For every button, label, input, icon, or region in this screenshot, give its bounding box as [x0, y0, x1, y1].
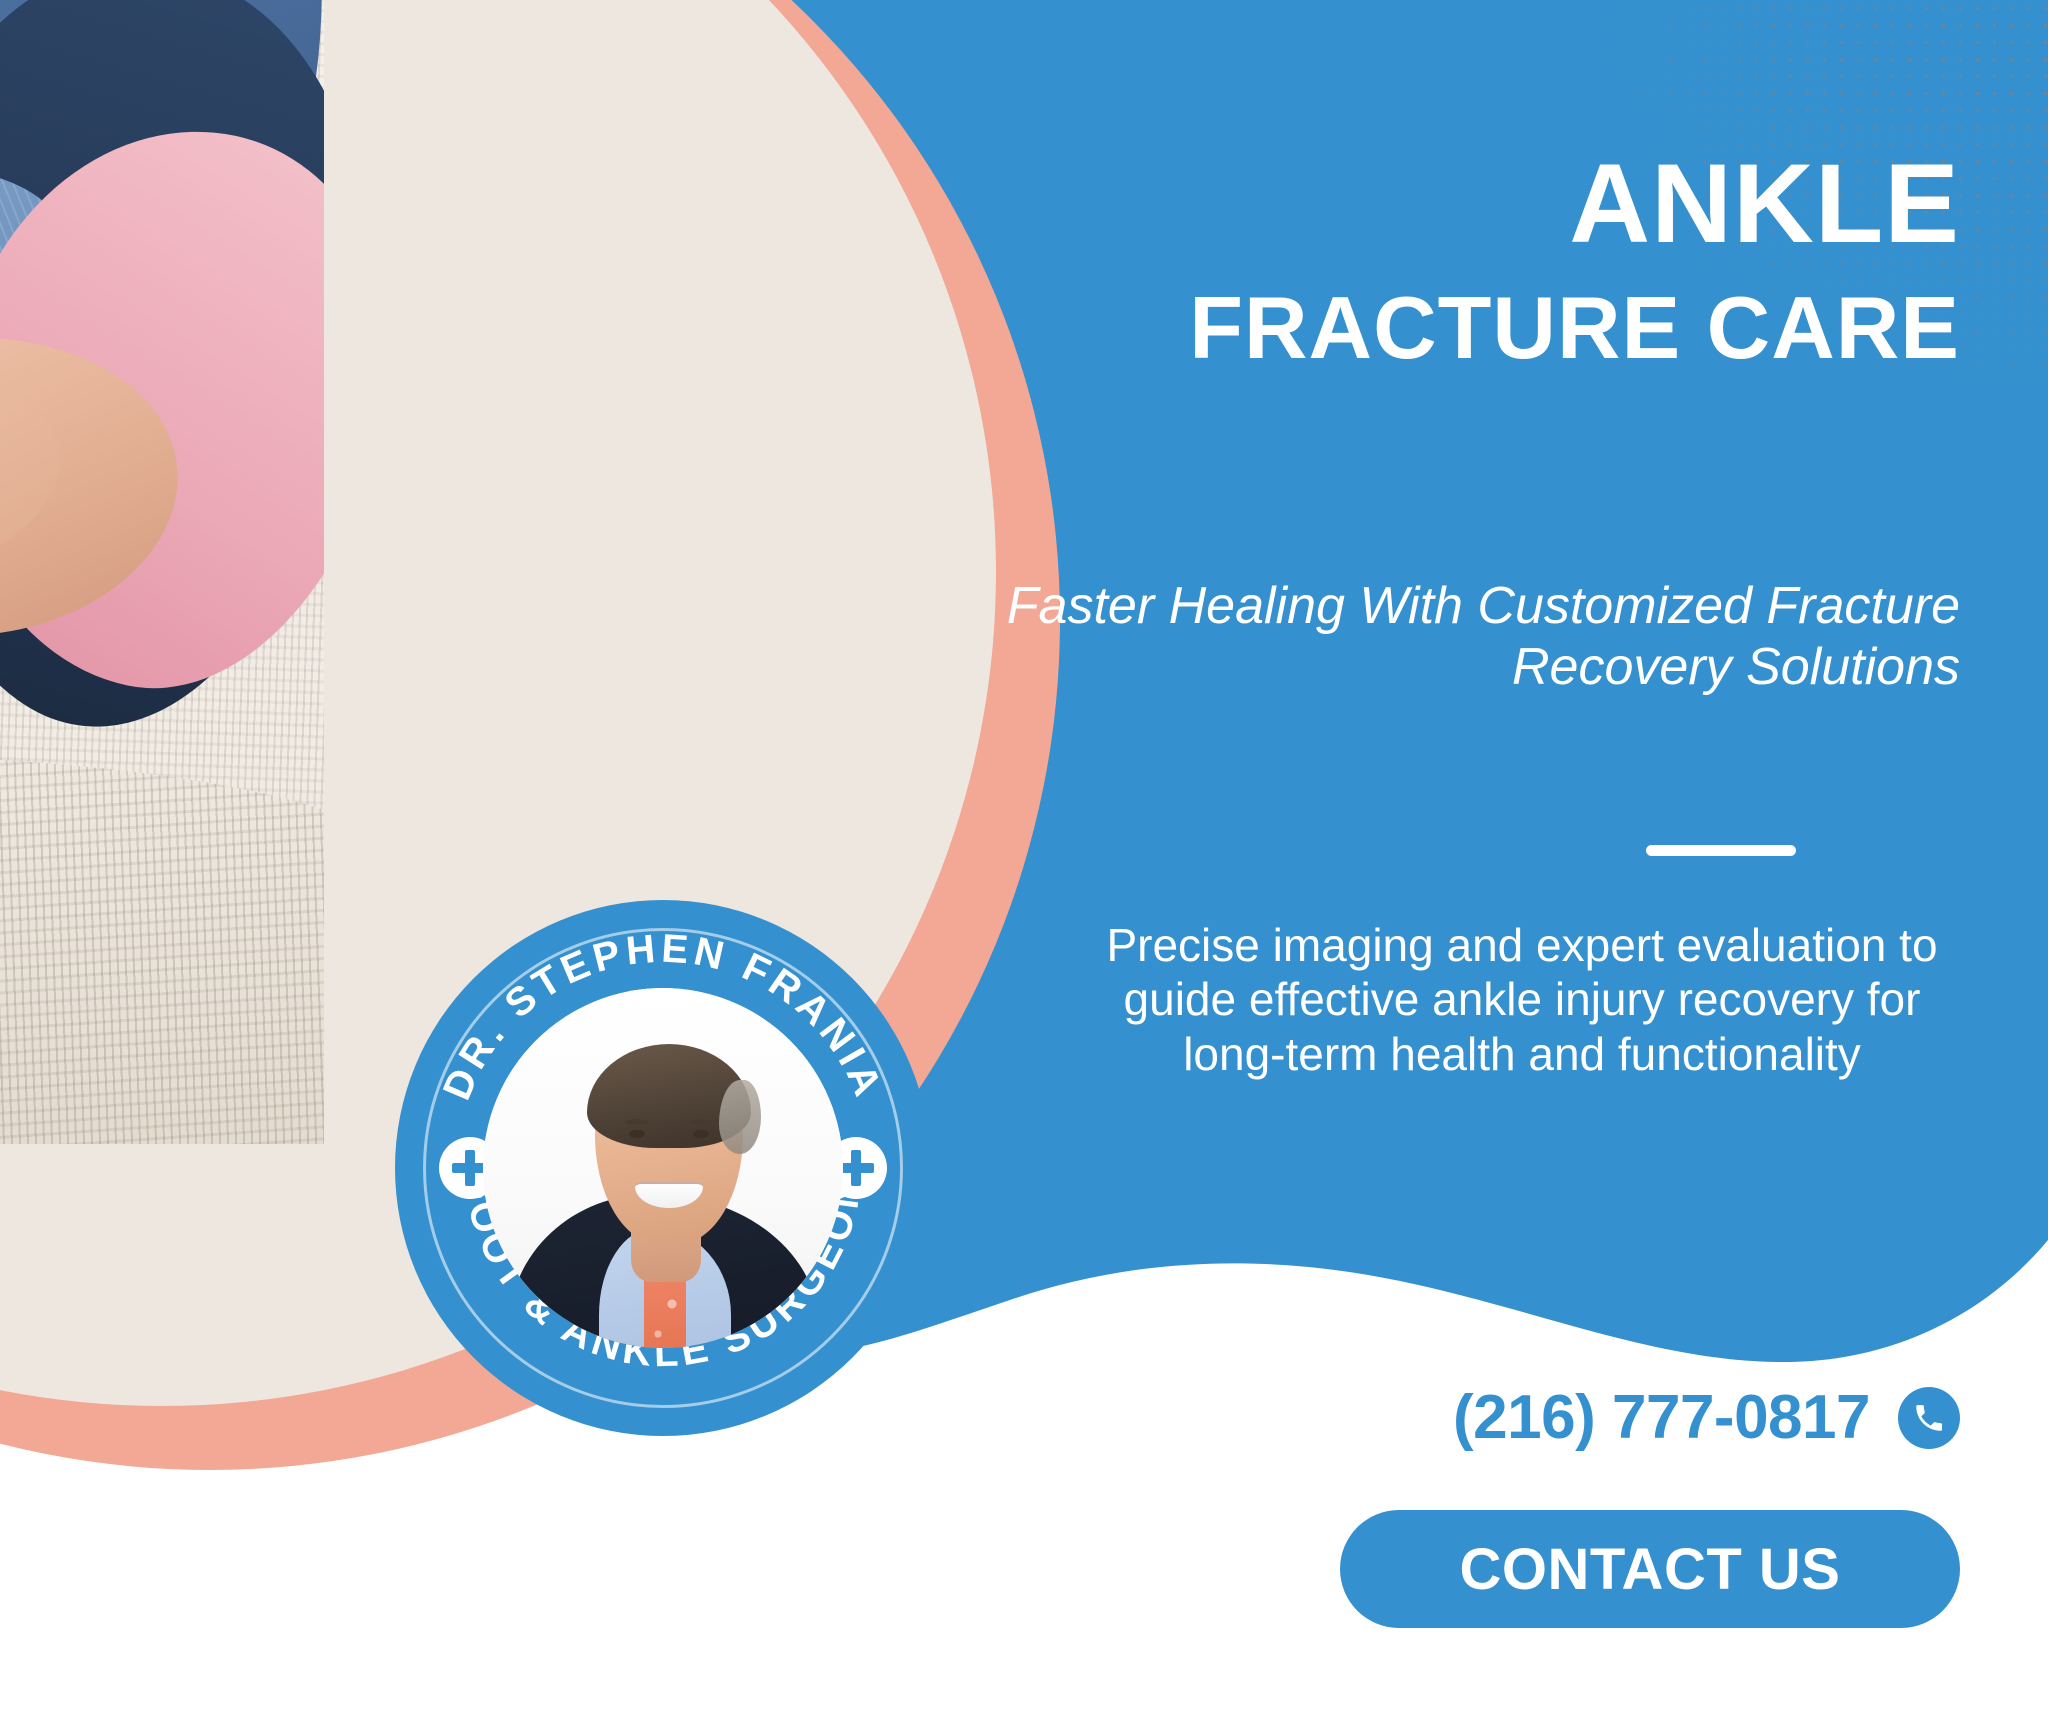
portrait-eyes — [595, 1062, 743, 1244]
hero-photo-image — [0, 0, 324, 1144]
horizontal-rule — [1646, 845, 1796, 856]
photo-cushion — [0, 754, 324, 1144]
phone-number[interactable]: (216) 777-0817 — [1453, 1382, 1870, 1453]
headline-primary: ANKLE — [1569, 148, 1960, 260]
subheading: Faster Healing With Customized Fracture … — [900, 576, 1960, 698]
headline-secondary: FRACTURE CARE — [1189, 284, 1960, 372]
poster-canvas: DR. STEPHEN FRANIA FOOT & ANKLE SURGEON — [0, 0, 2048, 1717]
contact-us-button[interactable]: CONTACT US — [1340, 1510, 1960, 1628]
phone-icon[interactable] — [1898, 1387, 1960, 1449]
doctor-portrait — [483, 988, 843, 1348]
doctor-badge[interactable]: DR. STEPHEN FRANIA FOOT & ANKLE SURGEON — [395, 900, 931, 1436]
body-paragraph: Precise imaging and expert evaluation to… — [1084, 918, 1960, 1081]
phone-contact-row[interactable]: (216) 777-0817 — [1453, 1382, 1960, 1453]
